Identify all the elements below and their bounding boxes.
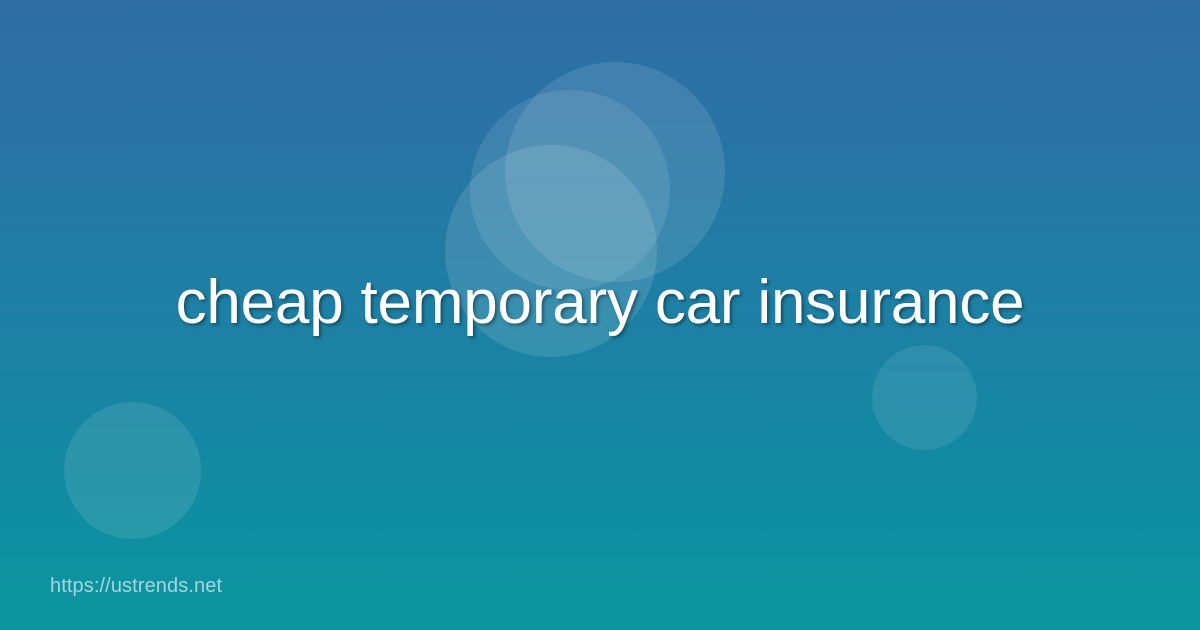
bokeh-circle-upper-right-icon [505, 62, 725, 282]
bokeh-circle-right-icon [872, 345, 977, 450]
social-share-card: cheap temporary car insurance https://us… [0, 0, 1200, 630]
bokeh-circle-middle-icon [470, 90, 670, 290]
site-url-link[interactable]: https://ustrends.net [50, 575, 222, 598]
bokeh-circle-bottom-left-icon [64, 402, 201, 539]
page-title: cheap temporary car insurance [0, 268, 1200, 337]
